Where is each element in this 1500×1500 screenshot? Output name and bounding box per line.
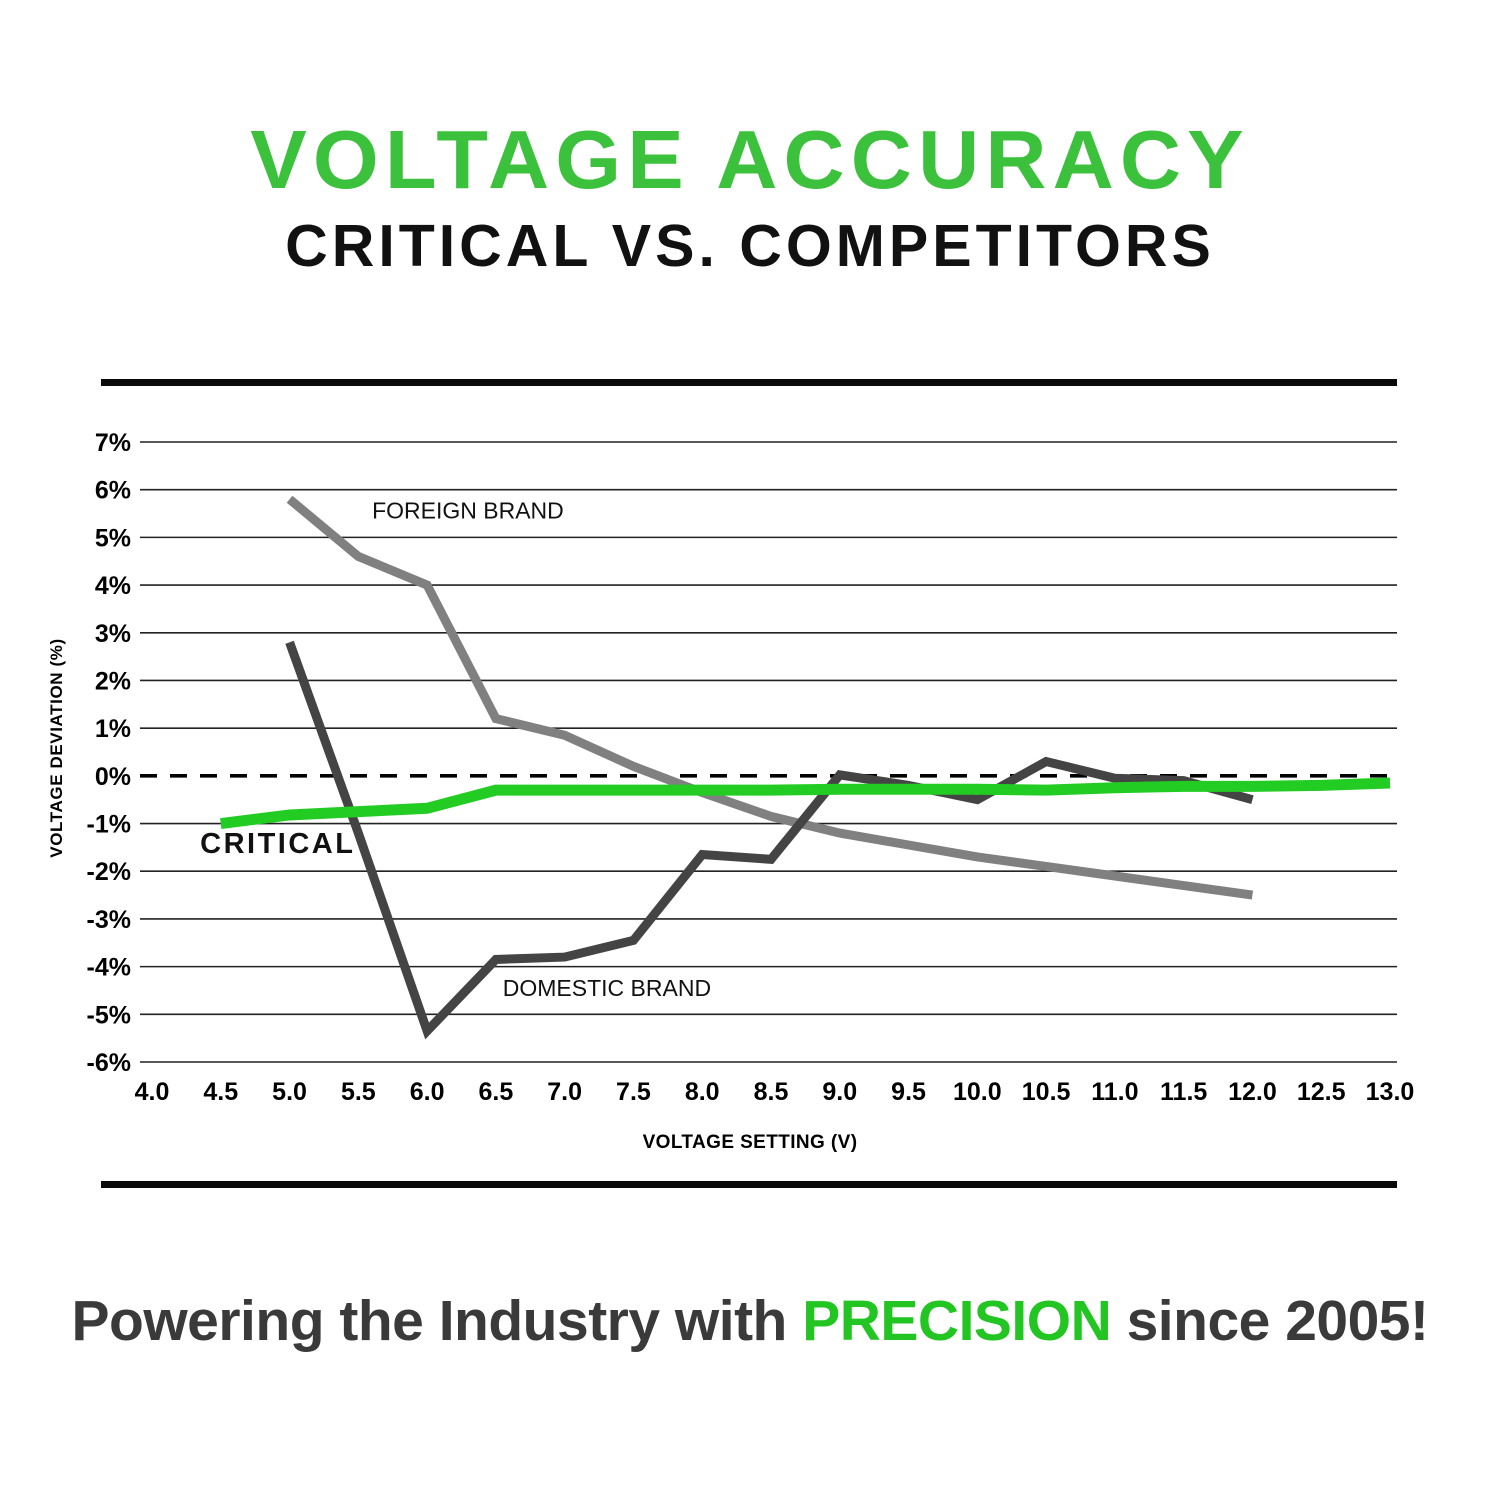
x-tick-label: 11.0	[1091, 1078, 1138, 1106]
chart-series	[221, 499, 1390, 1031]
x-axis-ticks: 4.04.55.05.56.06.57.07.58.08.59.09.510.0…	[135, 1078, 1415, 1106]
chart-header: VOLTAGE ACCURACY CRITICAL VS. COMPETITOR…	[0, 118, 1500, 276]
y-tick-label: 1%	[95, 715, 131, 743]
y-tick-label: 3%	[95, 620, 131, 648]
x-axis-title: VOLTAGE SETTING (V)	[643, 1132, 858, 1153]
tagline-before: Powering the Industry with	[72, 1289, 803, 1353]
x-tick-label: 13.0	[1366, 1078, 1415, 1106]
y-tick-label: -3%	[87, 906, 131, 934]
x-tick-label: 10.5	[1022, 1078, 1071, 1106]
x-tick-label: 6.5	[479, 1078, 514, 1106]
y-tick-label: 7%	[95, 429, 131, 457]
y-tick-label: 5%	[95, 524, 131, 552]
x-tick-label: 9.5	[891, 1078, 926, 1106]
x-tick-label: 8.0	[685, 1078, 720, 1106]
y-tick-label: -6%	[87, 1049, 131, 1077]
series-annotation-domestic-brand: DOMESTIC BRAND	[503, 975, 711, 1001]
page-title: VOLTAGE ACCURACY	[0, 118, 1500, 201]
x-tick-label: 7.5	[616, 1078, 651, 1106]
x-tick-label: 12.0	[1228, 1078, 1277, 1106]
divider-top	[101, 379, 1397, 386]
x-tick-label: 5.0	[272, 1078, 307, 1106]
divider-bottom	[101, 1181, 1397, 1188]
series-line-critical	[221, 783, 1390, 824]
x-tick-label: 10.0	[953, 1078, 1002, 1106]
x-tick-label: 4.5	[203, 1078, 238, 1106]
series-annotation-critical: CRITICAL	[200, 828, 355, 860]
y-tick-label: -4%	[87, 954, 131, 982]
y-tick-label: -5%	[87, 1001, 131, 1029]
series-line-foreign-brand	[290, 499, 1253, 895]
x-tick-label: 12.5	[1297, 1078, 1346, 1106]
tagline-after: since 2005!	[1111, 1289, 1428, 1353]
x-tick-label: 8.5	[754, 1078, 789, 1106]
x-tick-label: 4.0	[135, 1078, 170, 1106]
x-tick-label: 6.0	[410, 1078, 445, 1106]
y-tick-label: 4%	[95, 572, 131, 600]
x-tick-label: 9.0	[822, 1078, 857, 1106]
x-tick-label: 7.0	[547, 1078, 582, 1106]
x-tick-label: 11.5	[1160, 1078, 1207, 1106]
tagline: Powering the Industry with PRECISION sin…	[0, 1288, 1500, 1354]
series-annotation-foreign-brand: FOREIGN BRAND	[372, 497, 564, 523]
y-tick-label: -1%	[87, 811, 131, 839]
y-axis-title: VOLTAGE DEVIATION (%)	[47, 638, 66, 857]
y-axis-ticks: 7%6%5%4%3%2%1%0%-1%-2%-3%-4%-5%-6%	[87, 429, 131, 1077]
y-tick-label: 0%	[95, 763, 131, 791]
series-line-domestic-brand	[290, 642, 1253, 1031]
chart-gridlines	[140, 442, 1397, 1062]
x-tick-label: 5.5	[341, 1078, 376, 1106]
page-subtitle: CRITICAL VS. COMPETITORS	[0, 217, 1500, 276]
y-tick-label: 6%	[95, 477, 131, 505]
chart-annotations: FOREIGN BRANDDOMESTIC BRANDCRITICAL	[200, 497, 711, 1001]
y-tick-label: 2%	[95, 667, 131, 695]
tagline-accent: PRECISION	[802, 1289, 1111, 1353]
y-tick-label: -2%	[87, 858, 131, 886]
